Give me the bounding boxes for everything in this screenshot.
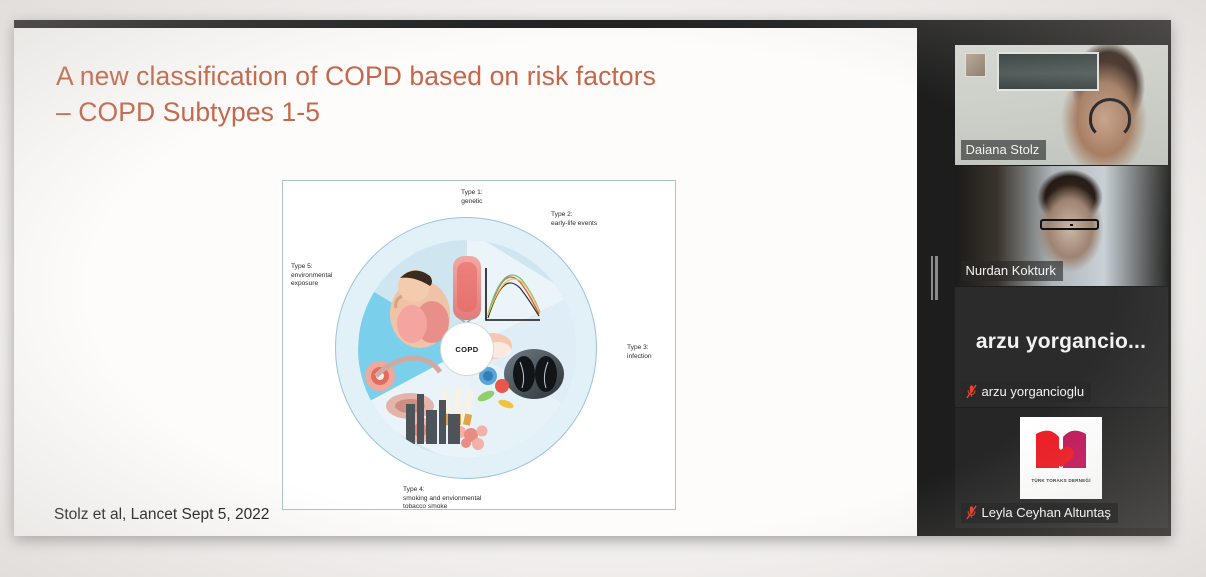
participant-tile-arzu-yorgancioglu[interactable]: arzu yorgancio... arzu yorgancioglu <box>955 287 1168 407</box>
headset-icon <box>1089 98 1132 139</box>
copd-subtype-figure: COPD Type 1: genetic Type 2: early-life … <box>282 180 676 510</box>
figure-outer-circle: COPD <box>335 217 597 479</box>
panel-resize-divider[interactable] <box>917 20 951 536</box>
participant-name-label: arzu yorgancioglu <box>961 382 1092 402</box>
shared-screen-region[interactable]: A new classification of COPD based on ri… <box>14 20 917 536</box>
participant-name: Nurdan Kokturk <box>966 262 1056 279</box>
participant-name: Leyla Ceyhan Altuntaş <box>982 504 1111 521</box>
drag-handle-icon[interactable] <box>930 256 939 300</box>
screen-background: A new classification of COPD based on ri… <box>0 0 1206 577</box>
slide-citation: Stolz et al, Lancet Sept 5, 2022 <box>54 506 269 524</box>
microphone-muted-icon <box>966 384 977 399</box>
microphone-muted-icon <box>966 505 977 520</box>
background-window <box>997 52 1099 90</box>
meeting-window: A new classification of COPD based on ri… <box>14 20 1171 536</box>
avatar: TÜRK TORAKS DERNEĞİ <box>1020 417 1102 499</box>
participant-name-label: Leyla Ceyhan Altuntaş <box>961 503 1118 523</box>
figure-label-type-4: Type 4: smoking and envionmental tobacco… <box>403 486 481 510</box>
figure-label-type-5: Type 5: environmental exposure <box>291 263 332 289</box>
participant-display-name-large: arzu yorgancio... <box>955 330 1168 354</box>
figure-center-label: COPD <box>440 322 494 376</box>
participant-name: Daiana Stolz <box>966 141 1040 158</box>
participant-tile-leyla-ceyhan-altuntas[interactable]: TÜRK TORAKS DERNEĞİ Leyla Ceyhan Altunta… <box>955 408 1168 528</box>
copd-core-text: COPD <box>455 345 478 354</box>
figure-inner-wheel: COPD <box>358 240 576 458</box>
participant-name-label: Nurdan Kokturk <box>961 261 1063 281</box>
presentation-slide[interactable]: A new classification of COPD based on ri… <box>14 28 917 536</box>
participant-tile-nurdan-kokturk[interactable]: Nurdan Kokturk <box>955 166 1168 286</box>
figure-label-type-1: Type 1: genetic <box>461 189 483 206</box>
participant-strip[interactable]: Daiana Stolz Nurdan Kokturk arzu yorganc… <box>951 20 1171 536</box>
drag-handle-bar <box>931 256 934 300</box>
figure-label-type-3: Type 3: infection <box>627 344 652 361</box>
slide-title: A new classification of COPD based on ri… <box>56 58 816 130</box>
participant-name-label: Daiana Stolz <box>961 140 1047 160</box>
organization-logo-icon <box>1032 424 1090 476</box>
background-picture-frame <box>965 53 986 77</box>
participant-name: arzu yorgancioglu <box>982 383 1085 400</box>
figure-label-type-2: Type 2: early-life events <box>551 211 597 228</box>
participant-tile-daiana-stolz[interactable]: Daiana Stolz <box>955 45 1168 165</box>
glasses-icon <box>1040 219 1100 230</box>
drag-handle-bar <box>935 256 938 300</box>
avatar-caption: TÜRK TORAKS DERNEĞİ <box>1031 478 1090 483</box>
